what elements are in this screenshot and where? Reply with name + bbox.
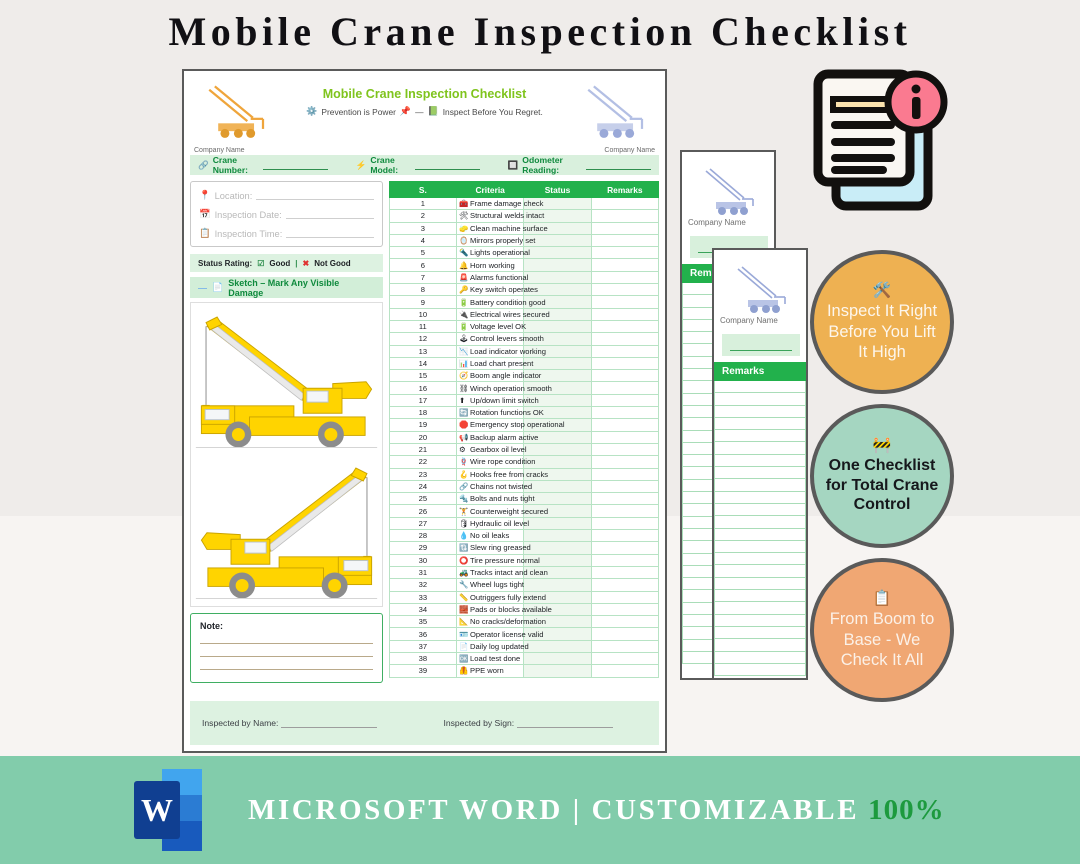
table-row[interactable]: 12🕹Control levers smooth xyxy=(389,333,658,345)
row-serial: 3 xyxy=(389,222,456,234)
inspected-by-name-label: Inspected by Name: xyxy=(202,718,278,728)
row-serial: 37 xyxy=(389,640,456,652)
criteria-icon: ⭕ xyxy=(459,556,470,565)
criteria-icon: 🔌 xyxy=(459,310,470,319)
left-column: 📍 Location: 📅 Inspection Date: 📋 Inspect… xyxy=(190,181,383,683)
criteria-icon: 📉 xyxy=(459,347,470,356)
criteria-icon: 📢 xyxy=(459,433,470,442)
link-icon: 🔗 xyxy=(198,160,209,171)
badge-from-boom-to-base: 📋 From Boom to Base - We Check It All xyxy=(810,558,954,702)
bolt-icon: ⚡ xyxy=(356,160,367,171)
criteria-icon: 🧰 xyxy=(459,199,470,208)
row-criteria: 🏋Counterweight secured xyxy=(457,505,524,517)
mini-table-header: Remarks xyxy=(714,362,806,381)
top-fields-bar: 🔗 Crane Number: ⚡ Crane Model: 🔲 Odomete… xyxy=(190,155,659,175)
row-remarks-cell[interactable] xyxy=(591,579,658,591)
criteria-icon: 🔃 xyxy=(459,543,470,552)
inspection-time-row[interactable]: 📋 Inspection Time: xyxy=(199,228,374,239)
row-remarks-cell[interactable] xyxy=(591,394,658,406)
row-remarks-cell[interactable] xyxy=(591,357,658,369)
location-label: Location: xyxy=(215,191,253,201)
criteria-icon: 📏 xyxy=(459,593,470,602)
banner-text: MICROSOFT WORD | CUSTOMIZABLE 100% xyxy=(248,794,945,827)
row-criteria: 🔩Bolts and nuts tight xyxy=(457,493,524,505)
table-header-row: S. Criteria Status Remarks xyxy=(389,182,658,198)
word-logo-letter: W xyxy=(134,781,180,839)
row-remarks-cell[interactable] xyxy=(591,222,658,234)
criteria-icon: 🔔 xyxy=(459,261,470,270)
criteria-icon: 🧭 xyxy=(459,371,470,380)
table-row[interactable]: 5🔦Lights operational xyxy=(389,247,658,259)
pushpin-icon: 📌 xyxy=(400,106,411,117)
row-status-cell[interactable] xyxy=(524,579,591,591)
row-remarks-cell[interactable] xyxy=(591,665,658,677)
table-row[interactable]: 23🪝Hooks free from cracks xyxy=(389,468,658,480)
row-remarks-cell[interactable] xyxy=(591,566,658,578)
checklist-table: S. Criteria Status Remarks 1🧰Frame damag… xyxy=(389,181,659,678)
row-criteria: 🪪Operator license valid xyxy=(457,628,524,640)
row-serial: 23 xyxy=(389,468,456,480)
row-criteria: 📉Load indicator working xyxy=(457,345,524,357)
row-serial: 28 xyxy=(389,530,456,542)
table-row[interactable]: 7🚨Alarms functional xyxy=(389,271,658,283)
row-criteria: 🪝Hooks free from cracks xyxy=(457,468,524,480)
row-criteria: 📊Load chart present xyxy=(457,357,524,369)
row-serial: 2 xyxy=(389,210,456,222)
row-remarks-cell[interactable] xyxy=(591,284,658,296)
badge-inspect-it-right: 🛠️ Inspect It Right Before You Lift It H… xyxy=(810,250,954,394)
row-serial: 21 xyxy=(389,443,456,455)
row-serial: 14 xyxy=(389,357,456,369)
row-serial: 4 xyxy=(389,234,456,246)
inspection-date-label: Inspection Date: xyxy=(215,210,282,220)
note-label: Note: xyxy=(200,621,373,631)
criteria-icon: 🛠 xyxy=(459,211,470,220)
row-remarks-cell[interactable] xyxy=(591,603,658,615)
inspected-by-name-input[interactable] xyxy=(281,719,377,728)
criteria-icon: ⛓ xyxy=(459,384,470,393)
row-criteria: 🕹Control levers smooth xyxy=(457,333,524,345)
row-remarks-cell[interactable] xyxy=(591,234,658,246)
row-criteria: 📏Outriggers fully extend xyxy=(457,591,524,603)
row-serial: 29 xyxy=(389,542,456,554)
row-serial: 11 xyxy=(389,320,456,332)
table-row[interactable]: 34🧱Pads or blocks available xyxy=(389,603,658,615)
criteria-icon: 🛢 xyxy=(459,519,470,528)
document-footer: Inspected by Name: Inspected by Sign: xyxy=(190,701,659,745)
row-remarks-cell[interactable] xyxy=(591,259,658,271)
row-serial: 12 xyxy=(389,333,456,345)
status-good-label: Good xyxy=(269,259,290,268)
row-criteria: 🆗Load test done xyxy=(457,652,524,664)
dash-icon: — xyxy=(198,283,207,293)
row-criteria: 🔃Slew ring greased xyxy=(457,542,524,554)
document-title: Mobile Crane Inspection Checklist xyxy=(190,87,659,101)
row-criteria: ⬆Up/down limit switch xyxy=(457,394,524,406)
note-box[interactable]: Note: xyxy=(190,613,383,683)
status-rating-label: Status Rating: xyxy=(198,259,252,268)
crane-icon xyxy=(728,264,794,314)
row-remarks-cell[interactable] xyxy=(591,247,658,259)
company-name-right: Company Name xyxy=(604,147,655,154)
table-row[interactable]: 21⚙Gearbox oil level xyxy=(389,443,658,455)
row-serial: 9 xyxy=(389,296,456,308)
row-criteria: ⚙Gearbox oil level xyxy=(457,443,524,455)
row-remarks-cell[interactable] xyxy=(591,640,658,652)
page-icon: 📄 xyxy=(212,282,223,293)
row-remarks-cell[interactable] xyxy=(591,628,658,640)
table-row[interactable]: 24🔗Chains not twisted xyxy=(389,480,658,492)
row-remarks-cell[interactable] xyxy=(591,333,658,345)
row-criteria: 🦺PPE worn xyxy=(457,665,524,677)
table-row[interactable]: 36🪪Operator license valid xyxy=(389,628,658,640)
row-status-cell[interactable] xyxy=(524,480,591,492)
row-serial: 31 xyxy=(389,566,456,578)
location-pin-icon: 📍 xyxy=(199,190,211,201)
row-serial: 7 xyxy=(389,271,456,283)
criteria-icon: 🪢 xyxy=(459,457,470,466)
info-box: 📍 Location: 📅 Inspection Date: 📋 Inspect… xyxy=(190,181,383,247)
badge-text: One Checklist for Total Crane Control xyxy=(814,456,950,515)
table-row[interactable]: 15🧭Boom angle indicator xyxy=(389,370,658,382)
badge-one-checklist: 🚧 One Checklist for Total Crane Control xyxy=(810,404,954,548)
bottom-banner: W MICROSOFT WORD | CUSTOMIZABLE 100% xyxy=(0,756,1080,864)
inspected-by-sign-input[interactable] xyxy=(517,719,613,728)
cross-icon[interactable]: ✖ xyxy=(303,259,310,268)
row-status-cell[interactable] xyxy=(524,652,591,664)
crane-illustration-2 xyxy=(194,460,379,600)
row-serial: 25 xyxy=(389,493,456,505)
row-criteria: 💧No oil leaks xyxy=(457,530,524,542)
row-remarks-cell[interactable] xyxy=(591,591,658,603)
header-status: Status xyxy=(524,182,591,198)
banner-percent: 100% xyxy=(868,794,945,827)
row-serial: 16 xyxy=(389,382,456,394)
table-row[interactable]: 25🔩Bolts and nuts tight xyxy=(389,493,658,505)
criteria-icon: 🛑 xyxy=(459,420,470,429)
row-criteria: 🧰Frame damage check xyxy=(457,198,524,210)
inspected-by-sign-label: Inspected by Sign: xyxy=(443,718,514,728)
gauge-icon: 🔲 xyxy=(508,160,519,171)
row-serial: 18 xyxy=(389,407,456,419)
row-serial: 10 xyxy=(389,308,456,320)
table-row[interactable]: 28💧No oil leaks xyxy=(389,530,658,542)
criteria-icon: 📊 xyxy=(459,359,470,368)
crane-model-input[interactable] xyxy=(415,161,480,170)
status-not-good-label: Not Good xyxy=(314,259,350,268)
criteria-icon: 🦺 xyxy=(459,666,470,675)
criteria-icon: 🔋 xyxy=(459,322,470,331)
table-row[interactable]: 8🔑Key switch operates xyxy=(389,284,658,296)
row-criteria: 🔗Chains not twisted xyxy=(457,480,524,492)
criteria-icon: 🔧 xyxy=(459,580,470,589)
criteria-icon: ⬆ xyxy=(459,396,470,405)
note-line xyxy=(200,669,373,670)
page-title: Mobile Crane Inspection Checklist xyxy=(0,8,1080,55)
clipboard-icon: 📋 xyxy=(873,590,892,608)
row-status-cell[interactable] xyxy=(524,247,591,259)
note-line xyxy=(200,643,373,644)
row-remarks-cell[interactable] xyxy=(591,505,658,517)
row-serial: 27 xyxy=(389,517,456,529)
row-remarks-cell[interactable] xyxy=(591,456,658,468)
row-remarks-cell[interactable] xyxy=(591,320,658,332)
table-row[interactable]: 9🔋Battery condition good xyxy=(389,296,658,308)
checkbox-icon[interactable]: ☑ xyxy=(257,259,264,268)
row-serial: 22 xyxy=(389,456,456,468)
row-remarks-cell[interactable] xyxy=(591,468,658,480)
row-criteria: 🧭Boom angle indicator xyxy=(457,370,524,382)
header-remarks: Remarks xyxy=(591,182,658,198)
table-row[interactable]: 6🔔Horn working xyxy=(389,259,658,271)
row-remarks-cell[interactable] xyxy=(591,198,658,210)
row-criteria: 🛑Emergency stop operational xyxy=(457,419,524,431)
odometer-label: Odometer Reading: xyxy=(522,155,582,175)
table-row[interactable]: 19🛑Emergency stop operational xyxy=(389,419,658,431)
row-status-cell[interactable] xyxy=(524,517,591,529)
tagline-dash: — xyxy=(415,107,423,117)
table-row[interactable]: 27🛢Hydraulic oil level xyxy=(389,517,658,529)
table-row[interactable]: 38🆗Load test done xyxy=(389,652,658,664)
criteria-icon: 💧 xyxy=(459,531,470,540)
row-criteria: 🛠Structural welds intact xyxy=(457,210,524,222)
clock-icon: 📋 xyxy=(199,228,211,239)
row-remarks-cell[interactable] xyxy=(591,296,658,308)
criteria-icon: ⚙ xyxy=(459,445,470,454)
row-remarks-cell[interactable] xyxy=(591,271,658,283)
row-serial: 5 xyxy=(389,247,456,259)
table-row[interactable]: 30⭕Tire pressure normal xyxy=(389,554,658,566)
row-remarks-cell[interactable] xyxy=(591,370,658,382)
row-serial: 13 xyxy=(389,345,456,357)
row-criteria: 🛢Hydraulic oil level xyxy=(457,517,524,529)
criteria-icon: 🔦 xyxy=(459,248,470,257)
table-row[interactable]: 11🔋Voltage level OK xyxy=(389,320,658,332)
table-row[interactable]: 20📢Backup alarm active xyxy=(389,431,658,443)
criteria-icon: 🆗 xyxy=(459,654,470,663)
table-row[interactable]: 33📏Outriggers fully extend xyxy=(389,591,658,603)
row-remarks-cell[interactable] xyxy=(591,308,658,320)
row-serial: 19 xyxy=(389,419,456,431)
row-criteria: 🧽Clean machine surface xyxy=(457,222,524,234)
row-serial: 32 xyxy=(389,579,456,591)
row-status-cell[interactable] xyxy=(524,320,591,332)
row-criteria: 🔌Electrical wires secured xyxy=(457,308,524,320)
location-row[interactable]: 📍 Location: xyxy=(199,190,374,201)
row-serial: 8 xyxy=(389,284,456,296)
table-row[interactable]: 37📄Daily log updated xyxy=(389,640,658,652)
table-row[interactable]: 3🧽Clean machine surface xyxy=(389,222,658,234)
table-row[interactable]: 29🔃Slew ring greased xyxy=(389,542,658,554)
table-row[interactable]: 2🛠Structural welds intact xyxy=(389,210,658,222)
table-row[interactable]: 14📊Load chart present xyxy=(389,357,658,369)
row-serial: 17 xyxy=(389,394,456,406)
row-serial: 15 xyxy=(389,370,456,382)
banner-main-text: MICROSOFT WORD | CUSTOMIZABLE xyxy=(248,794,859,827)
sketch-label: Sketch – Mark Any Visible Damage xyxy=(228,278,374,298)
row-remarks-cell[interactable] xyxy=(591,382,658,394)
row-criteria: 🔦Lights operational xyxy=(457,247,524,259)
row-remarks-cell[interactable] xyxy=(591,480,658,492)
status-separator: | xyxy=(295,259,297,268)
criteria-icon: 🧱 xyxy=(459,605,470,614)
company-name-label: Company Name xyxy=(720,316,778,325)
crane-number-input[interactable] xyxy=(263,161,328,170)
mini-green-bar xyxy=(722,334,800,356)
crane-model-label: Crane Model: xyxy=(370,155,411,175)
tagline-right-text: Inspect Before You Regret. xyxy=(443,107,543,117)
row-status-cell[interactable] xyxy=(524,542,591,554)
crane-icon xyxy=(696,166,762,216)
row-criteria: 🔔Horn working xyxy=(457,259,524,271)
criteria-icon: 🪞 xyxy=(459,236,470,245)
crane-number-label: Crane Number: xyxy=(213,155,260,175)
criteria-icon: 🚨 xyxy=(459,273,470,282)
table-row[interactable]: 35📐No cracks/deformation xyxy=(389,616,658,628)
row-status-cell[interactable] xyxy=(524,640,591,652)
gear-icon: ⚙️ xyxy=(306,106,317,117)
row-remarks-cell[interactable] xyxy=(591,210,658,222)
row-status-cell[interactable] xyxy=(524,443,591,455)
criteria-icon: 📄 xyxy=(459,642,470,651)
row-serial: 39 xyxy=(389,665,456,677)
inspection-time-input[interactable] xyxy=(286,229,373,238)
mini-table-rows xyxy=(714,381,806,678)
table-row[interactable]: 22🪢Wire rope condition xyxy=(389,456,658,468)
criteria-icon: 🔗 xyxy=(459,482,470,491)
location-input[interactable] xyxy=(256,191,373,200)
row-status-cell[interactable] xyxy=(524,530,591,542)
crane-illustration-1 xyxy=(194,309,379,449)
table-row[interactable]: 17⬆Up/down limit switch xyxy=(389,394,658,406)
row-remarks-cell[interactable] xyxy=(591,530,658,542)
row-remarks-cell[interactable] xyxy=(591,616,658,628)
calendar-icon: 📅 xyxy=(199,209,211,220)
row-remarks-cell[interactable] xyxy=(591,419,658,431)
row-serial: 33 xyxy=(389,591,456,603)
clipboard-icon: 📗 xyxy=(427,106,438,117)
odometer-input[interactable] xyxy=(586,161,651,170)
table-row[interactable]: 13📉Load indicator working xyxy=(389,345,658,357)
table-row[interactable]: 39🦺PPE worn xyxy=(389,665,658,677)
criteria-icon: 🪝 xyxy=(459,470,470,479)
row-status-cell[interactable] xyxy=(524,665,591,677)
row-criteria: 📢Backup alarm active xyxy=(457,431,524,443)
checklist-table-column: S. Criteria Status Remarks 1🧰Frame damag… xyxy=(389,181,659,683)
table-row[interactable]: 18🔄Rotation functions OK xyxy=(389,407,658,419)
row-serial: 30 xyxy=(389,554,456,566)
criteria-icon: 🔑 xyxy=(459,285,470,294)
row-serial: 34 xyxy=(389,603,456,615)
row-criteria: 🔋Voltage level OK xyxy=(457,320,524,332)
row-criteria: 📐No cracks/deformation xyxy=(457,616,524,628)
row-remarks-cell[interactable] xyxy=(591,652,658,664)
row-remarks-cell[interactable] xyxy=(591,542,658,554)
row-remarks-cell[interactable] xyxy=(591,554,658,566)
row-criteria: ⭕Tire pressure normal xyxy=(457,554,524,566)
row-remarks-cell[interactable] xyxy=(591,493,658,505)
document-info-icon xyxy=(804,62,962,217)
row-criteria: 🚨Alarms functional xyxy=(457,271,524,283)
row-criteria: 📄Daily log updated xyxy=(457,640,524,652)
inspection-date-row[interactable]: 📅 Inspection Date: xyxy=(199,209,374,220)
table-row[interactable]: 26🏋Counterweight secured xyxy=(389,505,658,517)
badge-text: Inspect It Right Before You Lift It High xyxy=(814,301,950,361)
microsoft-word-logo: W xyxy=(124,769,220,851)
criteria-icon: 🚜 xyxy=(459,568,470,577)
row-serial: 20 xyxy=(389,431,456,443)
barrier-icon: 🚧 xyxy=(873,437,892,455)
inspection-date-input[interactable] xyxy=(286,210,374,219)
row-criteria: 🪞Mirrors properly set xyxy=(457,234,524,246)
row-serial: 38 xyxy=(389,652,456,664)
table-row[interactable]: 31🚜Tracks intact and clean xyxy=(389,566,658,578)
row-serial: 24 xyxy=(389,480,456,492)
row-remarks-cell[interactable] xyxy=(591,443,658,455)
background-page-3: Company Name Remarks xyxy=(712,248,808,680)
row-remarks-cell[interactable] xyxy=(591,431,658,443)
sketch-area[interactable] xyxy=(190,302,383,607)
row-criteria: 🔧Wheel lugs tight xyxy=(457,579,524,591)
document-header: Mobile Crane Inspection Checklist ⚙️ Pre… xyxy=(190,77,659,155)
inspected-by-sign-field[interactable]: Inspected by Sign: xyxy=(443,718,613,728)
document-tagline: ⚙️ Prevention is Power 📌 — 📗 Inspect Bef… xyxy=(190,106,659,117)
table-row[interactable]: 32🔧Wheel lugs tight xyxy=(389,579,658,591)
tagline-left-text: Prevention is Power xyxy=(321,107,395,117)
row-criteria: 🚜Tracks intact and clean xyxy=(457,566,524,578)
table-row[interactable]: 16⛓Winch operation smooth xyxy=(389,382,658,394)
note-line xyxy=(200,656,373,657)
row-criteria: ⛓Winch operation smooth xyxy=(457,382,524,394)
row-serial: 1 xyxy=(389,198,456,210)
row-status-cell[interactable] xyxy=(524,271,591,283)
criteria-icon: 🪪 xyxy=(459,630,470,639)
header-serial: S. xyxy=(389,182,456,198)
badge-text: From Boom to Base - We Check It All xyxy=(814,609,950,669)
row-serial: 35 xyxy=(389,616,456,628)
criteria-icon: 🔄 xyxy=(459,408,470,417)
row-criteria: 🔄Rotation functions OK xyxy=(457,407,524,419)
inspected-by-name-field[interactable]: Inspected by Name: xyxy=(202,718,377,728)
sketch-header-row: — 📄 Sketch – Mark Any Visible Damage xyxy=(190,277,383,298)
row-serial: 36 xyxy=(389,628,456,640)
criteria-icon: 🔋 xyxy=(459,298,470,307)
table-row[interactable]: 1🧰Frame damage check xyxy=(389,198,658,210)
criteria-icon: 🏋 xyxy=(459,507,470,516)
table-row[interactable]: 10🔌Electrical wires secured xyxy=(389,308,658,320)
row-serial: 6 xyxy=(389,259,456,271)
criteria-icon: 🧽 xyxy=(459,224,470,233)
row-remarks-cell[interactable] xyxy=(591,407,658,419)
row-remarks-cell[interactable] xyxy=(591,345,658,357)
table-row[interactable]: 4🪞Mirrors properly set xyxy=(389,234,658,246)
inspection-time-label: Inspection Time: xyxy=(215,229,283,239)
row-status-cell[interactable] xyxy=(524,259,591,271)
header-criteria: Criteria xyxy=(457,182,524,198)
row-status-cell[interactable] xyxy=(524,357,591,369)
company-name-left: Company Name xyxy=(194,147,245,154)
row-remarks-cell[interactable] xyxy=(591,517,658,529)
criteria-icon: 🔩 xyxy=(459,494,470,503)
tools-icon: 🛠️ xyxy=(873,282,892,300)
row-criteria: 🪢Wire rope condition xyxy=(457,456,524,468)
checklist-document[interactable]: Mobile Crane Inspection Checklist ⚙️ Pre… xyxy=(182,69,667,753)
row-criteria: 🔑Key switch operates xyxy=(457,284,524,296)
row-serial: 26 xyxy=(389,505,456,517)
criteria-icon: 📐 xyxy=(459,617,470,626)
company-name-label: Company Name xyxy=(688,218,746,227)
row-criteria: 🧱Pads or blocks available xyxy=(457,603,524,615)
